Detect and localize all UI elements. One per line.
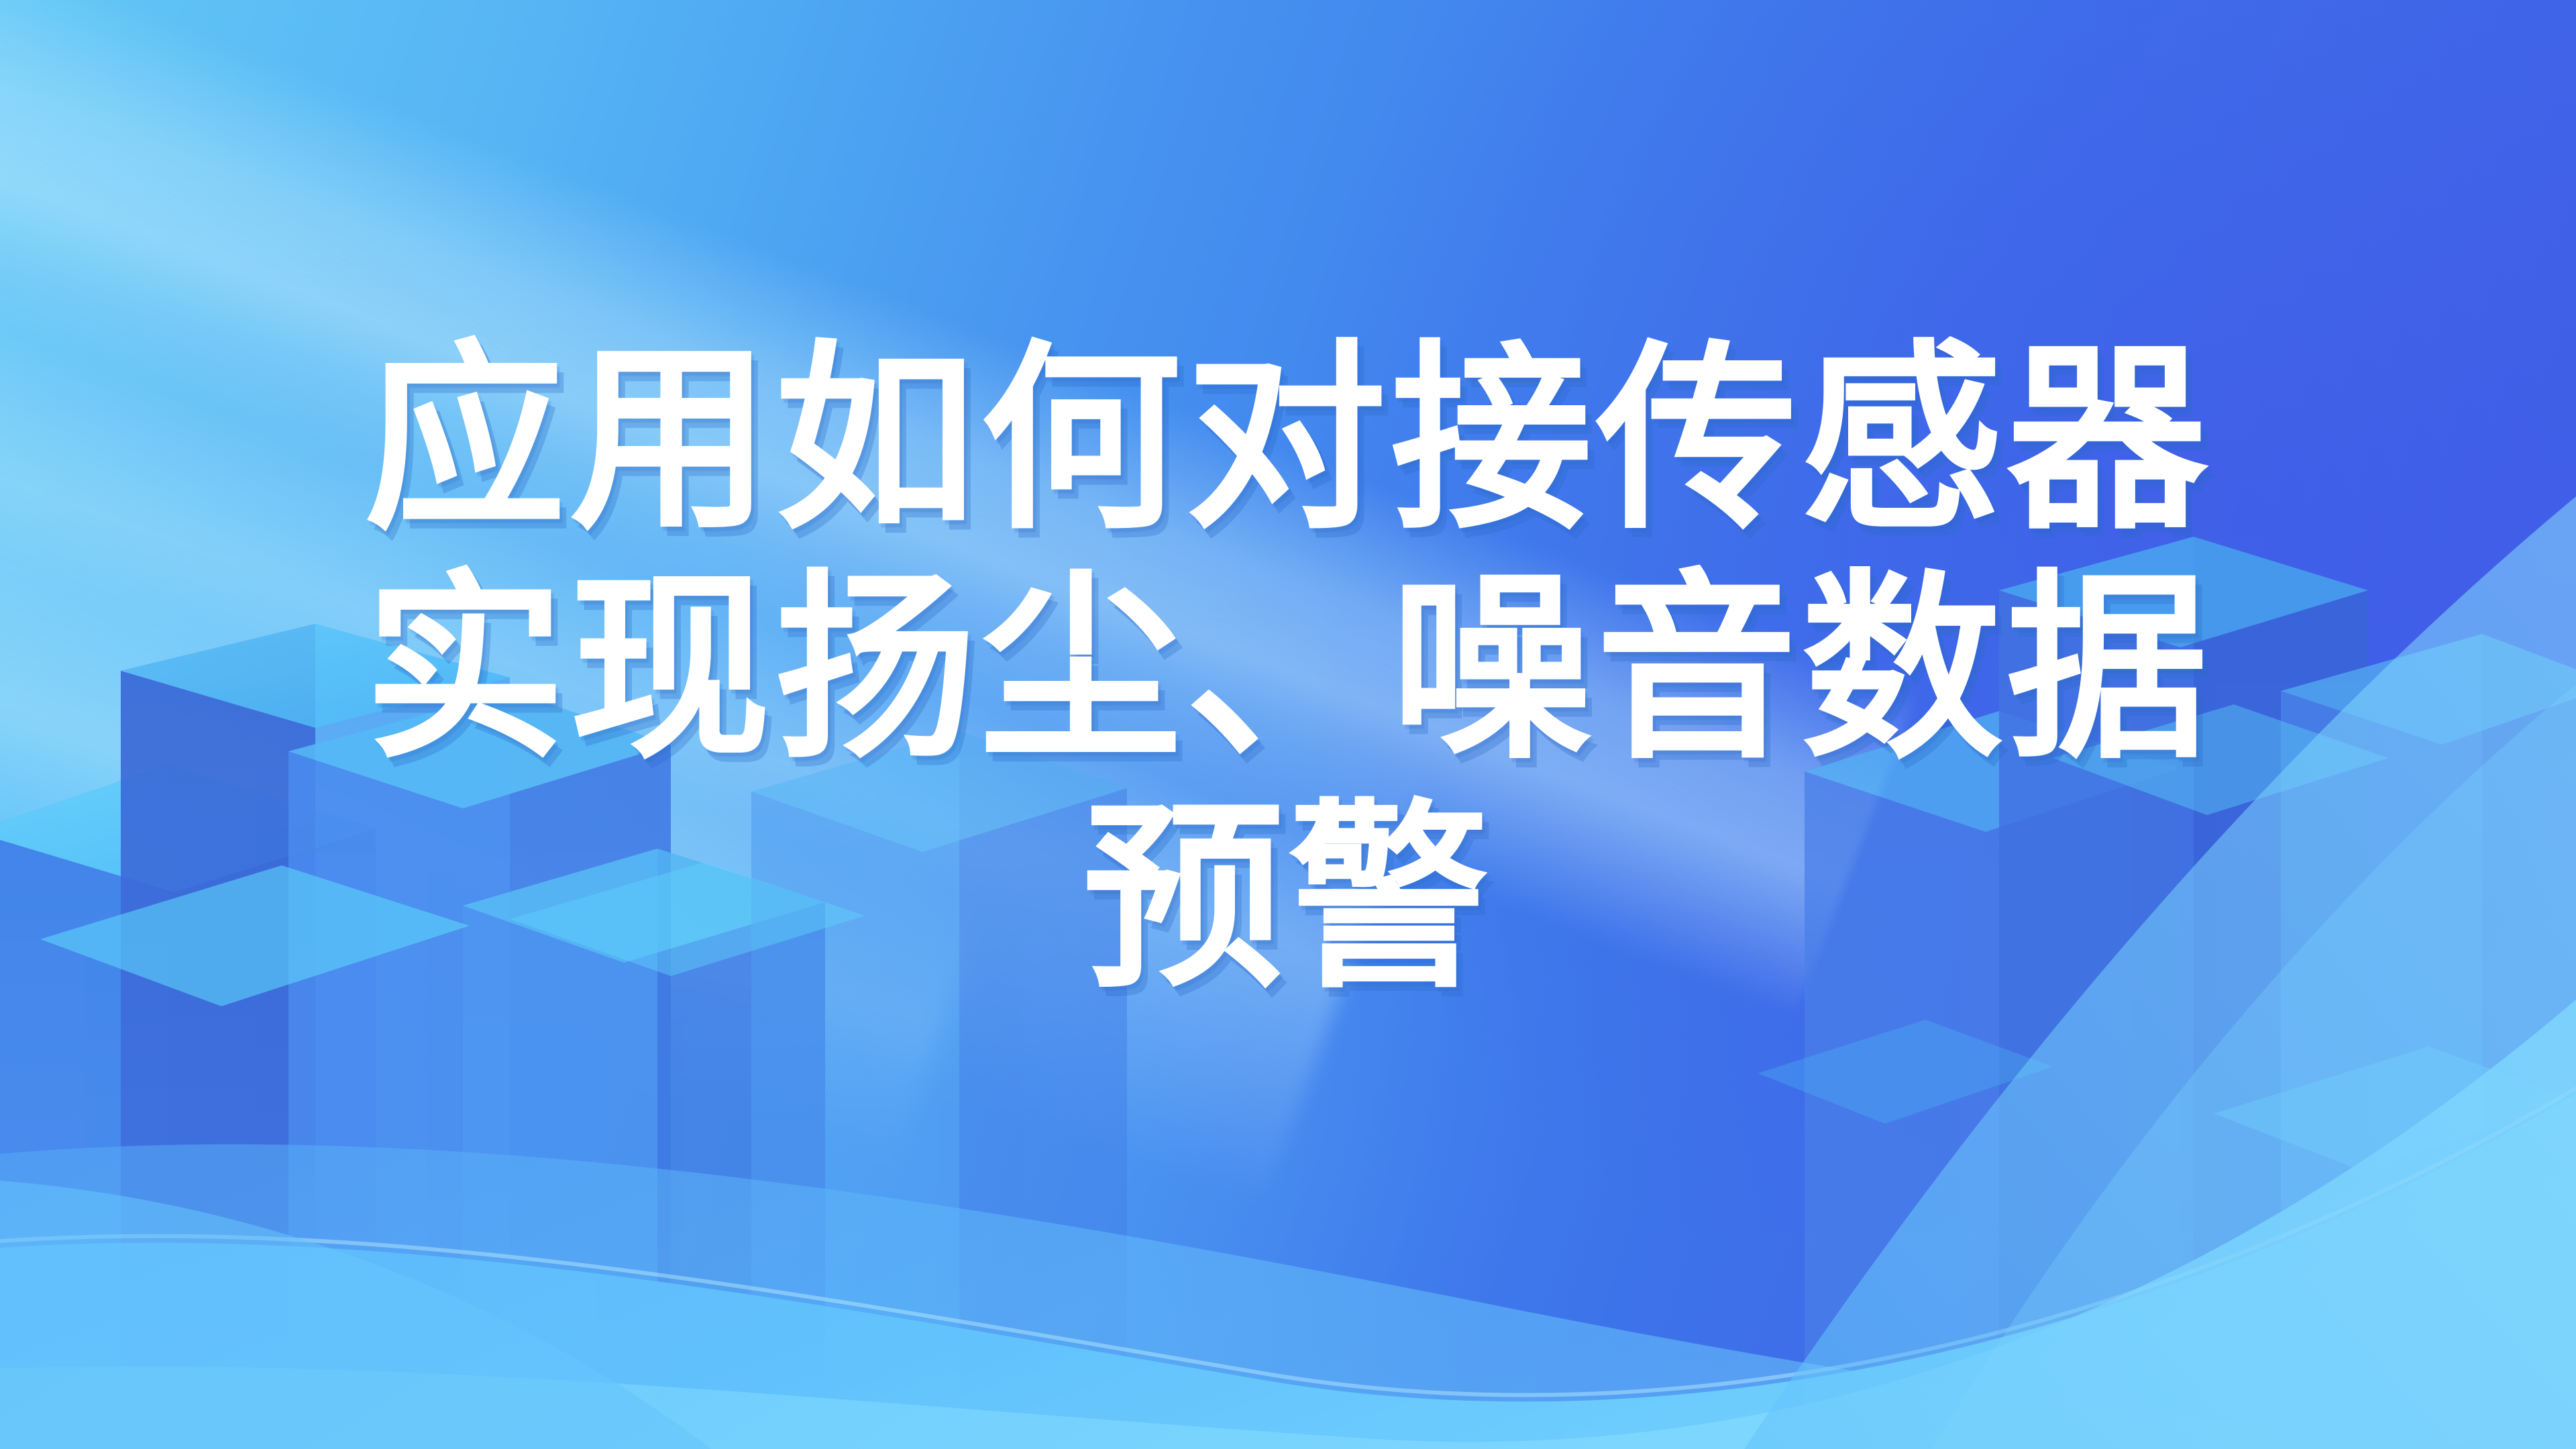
- banner-canvas: 应用如何对接传感器 实现扬尘、噪音数据 预警: [0, 0, 2576, 1449]
- title-line-2: 实现扬尘、噪音数据: [0, 568, 2576, 769]
- banner-title: 应用如何对接传感器 实现扬尘、噪音数据 预警: [0, 339, 2576, 999]
- title-line-3: 预警: [0, 798, 2576, 999]
- title-line-1: 应用如何对接传感器: [0, 339, 2576, 540]
